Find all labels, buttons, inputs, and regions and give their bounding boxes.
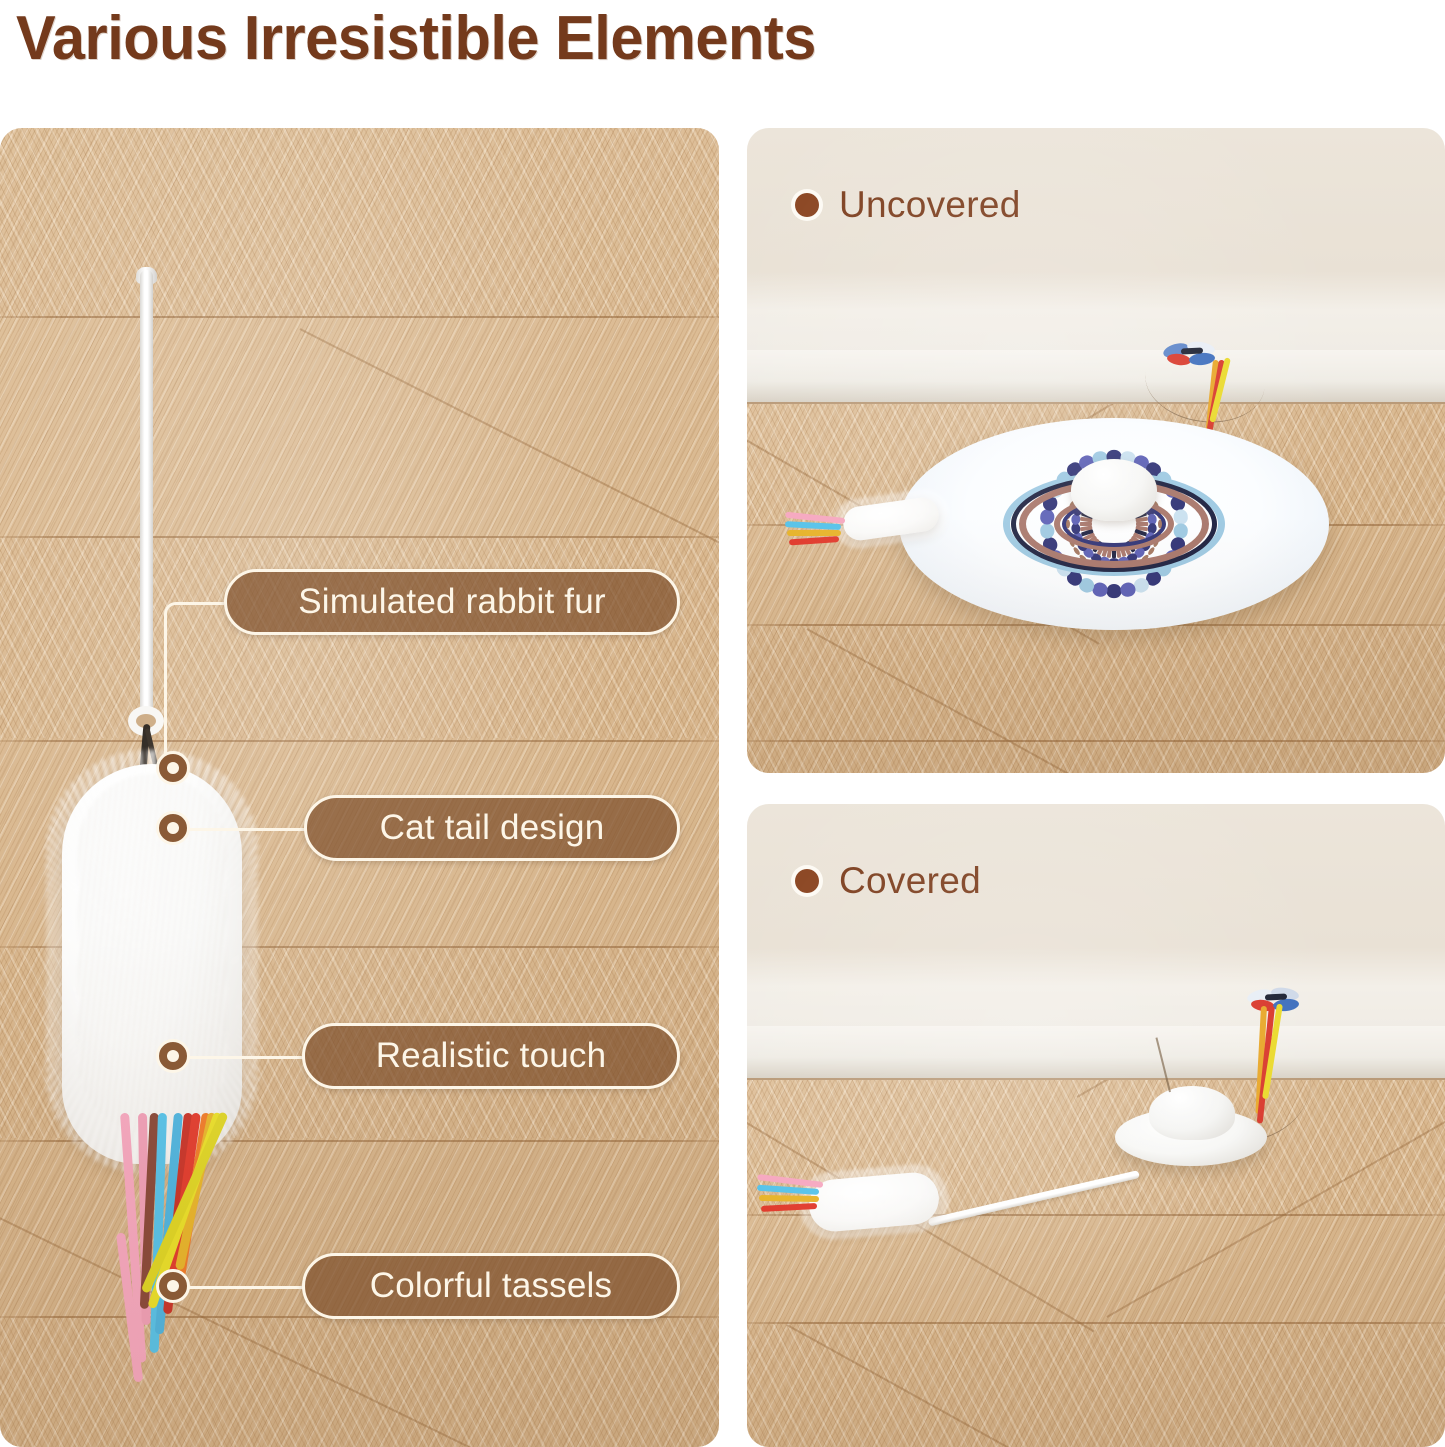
butterfly-body xyxy=(1181,347,1203,354)
callout-leader-line xyxy=(186,1056,304,1059)
floor-seam xyxy=(0,740,719,742)
callout-pill-colorful-tassels[interactable]: Colorful tassels xyxy=(302,1253,680,1319)
cover-petal xyxy=(1107,584,1122,598)
callout-pill-simulated-rabbit-fur[interactable]: Simulated rabbit fur xyxy=(224,569,680,635)
rabbit-fur-tail xyxy=(62,764,242,1164)
section-label-covered: Covered xyxy=(795,860,981,902)
callout-leader-line xyxy=(186,828,306,831)
floor-seam xyxy=(747,1322,1445,1324)
callout-pill-cat-tail-design[interactable]: Cat tail design xyxy=(304,795,680,861)
section-heading: Uncovered xyxy=(839,184,1021,226)
base-dome xyxy=(1149,1086,1235,1140)
butterfly-body xyxy=(1265,993,1287,1000)
callout-dot-center xyxy=(167,762,179,774)
floor-plank-band xyxy=(747,1324,1445,1447)
baseboard xyxy=(747,350,1445,404)
fur-teaser xyxy=(807,1170,941,1233)
callout-dot-fur-top[interactable] xyxy=(156,751,190,785)
callout-dot-center xyxy=(167,1050,179,1062)
mandala-fabric-cover xyxy=(899,418,1329,630)
callout-pill-realistic-touch[interactable]: Realistic touch xyxy=(302,1023,680,1089)
colorful-tassels xyxy=(92,1113,302,1383)
base-unit xyxy=(1115,1086,1267,1166)
tassel-under-cover xyxy=(787,530,841,536)
callout-dot-tassel-bundle[interactable] xyxy=(156,1269,190,1303)
callout-dot-fur-mid[interactable] xyxy=(156,1039,190,1073)
baseboard xyxy=(747,1026,1445,1080)
callout-dot-center xyxy=(167,822,179,834)
bullet-dot-icon xyxy=(795,193,819,217)
section-label-uncovered: Uncovered xyxy=(795,184,1021,226)
section-heading: Covered xyxy=(839,860,981,902)
cover-center-knob xyxy=(1071,459,1157,521)
callout-dot-center xyxy=(167,1280,179,1292)
bullet-dot-icon xyxy=(795,869,819,893)
floor-seam xyxy=(0,316,719,318)
tassel-strand xyxy=(759,1195,819,1202)
floor-seam xyxy=(0,536,719,538)
panel-covered: Covered xyxy=(747,804,1445,1447)
floor-plank-band xyxy=(0,538,719,738)
callout-leader-elbow xyxy=(164,602,224,768)
callout-leader-line xyxy=(186,1286,304,1289)
butterfly-wing xyxy=(1166,352,1191,366)
panel-uncovered: Uncovered xyxy=(747,128,1445,773)
fur-teaser-under-cover xyxy=(841,495,941,542)
wand-rod xyxy=(140,270,153,722)
callout-dot-tail-body[interactable] xyxy=(156,811,190,845)
floor-plank-band xyxy=(747,626,1445,773)
floor-plank-band xyxy=(0,128,719,318)
panel-wand-features: Simulated rabbit fur Cat tail design Rea… xyxy=(0,128,719,1447)
infographic-page: Various Irresistible Elements xyxy=(0,0,1445,1447)
floor-seam xyxy=(747,740,1445,742)
page-title: Various Irresistible Elements xyxy=(16,2,816,75)
